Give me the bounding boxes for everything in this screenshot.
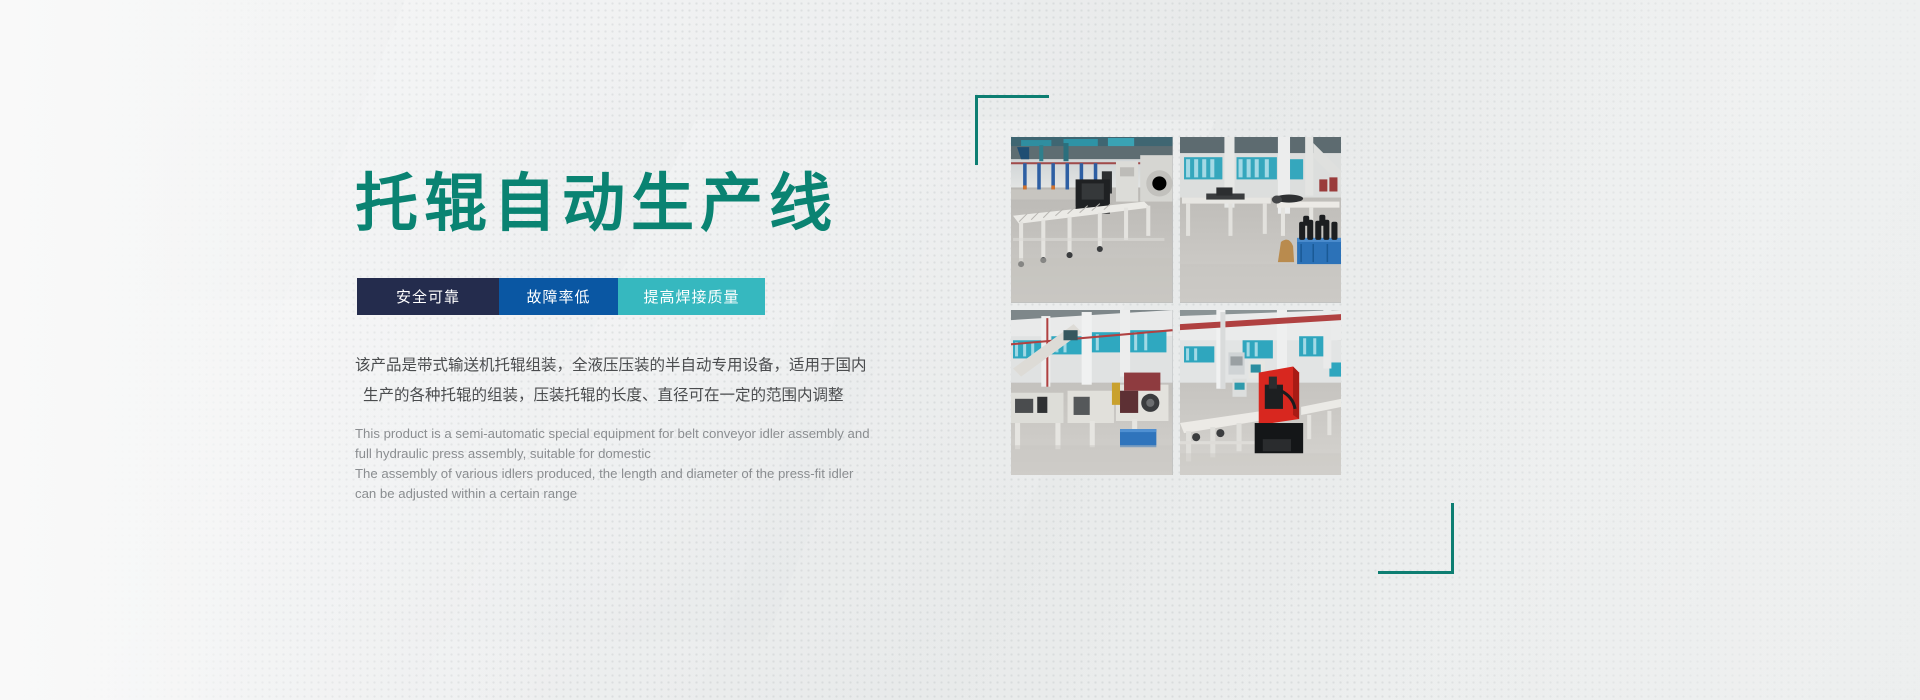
description-english-line-4: can be adjusted within a certain range bbox=[355, 484, 955, 504]
description-chinese-line-2: 生产的各种托辊的组装，压装托辊的长度、直径可在一定的范围内调整 bbox=[355, 380, 995, 410]
factory-photo-assembly-machines-image bbox=[1011, 310, 1173, 476]
feature-tag-safe-reliable[interactable]: 安全可靠 bbox=[357, 278, 499, 315]
factory-photo-assembly-machines[interactable] bbox=[1011, 310, 1173, 476]
feature-tag-low-failure-rate[interactable]: 故障率低 bbox=[499, 278, 618, 315]
description-chinese: 该产品是带式输送机托辊组装，全液压压装的半自动专用设备，适用于国内 生产的各种托… bbox=[355, 350, 995, 410]
factory-photo-workbenches-rollers[interactable] bbox=[1180, 137, 1342, 303]
feature-tag-improved-weld-quality[interactable]: 提高焊接质量 bbox=[618, 278, 765, 315]
description-chinese-line-1: 该产品是带式输送机托辊组装，全液压压装的半自动专用设备，适用于国内 bbox=[355, 350, 995, 380]
corner-bracket-bottom-right-icon bbox=[1378, 503, 1454, 574]
product-banner: 托辊自动生产线 安全可靠 故障率低 提高焊接质量 该产品是带式输送机托辊组装，全… bbox=[0, 0, 1920, 700]
photo-grid bbox=[1011, 137, 1341, 475]
description-english-line-1: This product is a semi-automatic special… bbox=[355, 424, 955, 444]
photo-gallery bbox=[975, 95, 1475, 565]
factory-photo-workbenches-rollers-image bbox=[1180, 137, 1342, 303]
page-title: 托辊自动生产线 bbox=[355, 171, 838, 237]
factory-photo-conveyor-line-image bbox=[1011, 137, 1173, 303]
factory-photo-red-press-machine-image bbox=[1180, 310, 1342, 476]
description-english: This product is a semi-automatic special… bbox=[355, 424, 955, 503]
banner-text-column: 托辊自动生产线 安全可靠 故障率低 提高焊接质量 该产品是带式输送机托辊组装，全… bbox=[355, 0, 975, 700]
description-english-line-2: full hydraulic press assembly, suitable … bbox=[355, 444, 955, 464]
factory-photo-conveyor-line[interactable] bbox=[1011, 137, 1173, 303]
feature-tag-row: 安全可靠 故障率低 提高焊接质量 bbox=[357, 278, 765, 315]
description-english-line-3: The assembly of various idlers produced,… bbox=[355, 464, 955, 484]
factory-photo-red-press-machine[interactable] bbox=[1180, 310, 1342, 476]
